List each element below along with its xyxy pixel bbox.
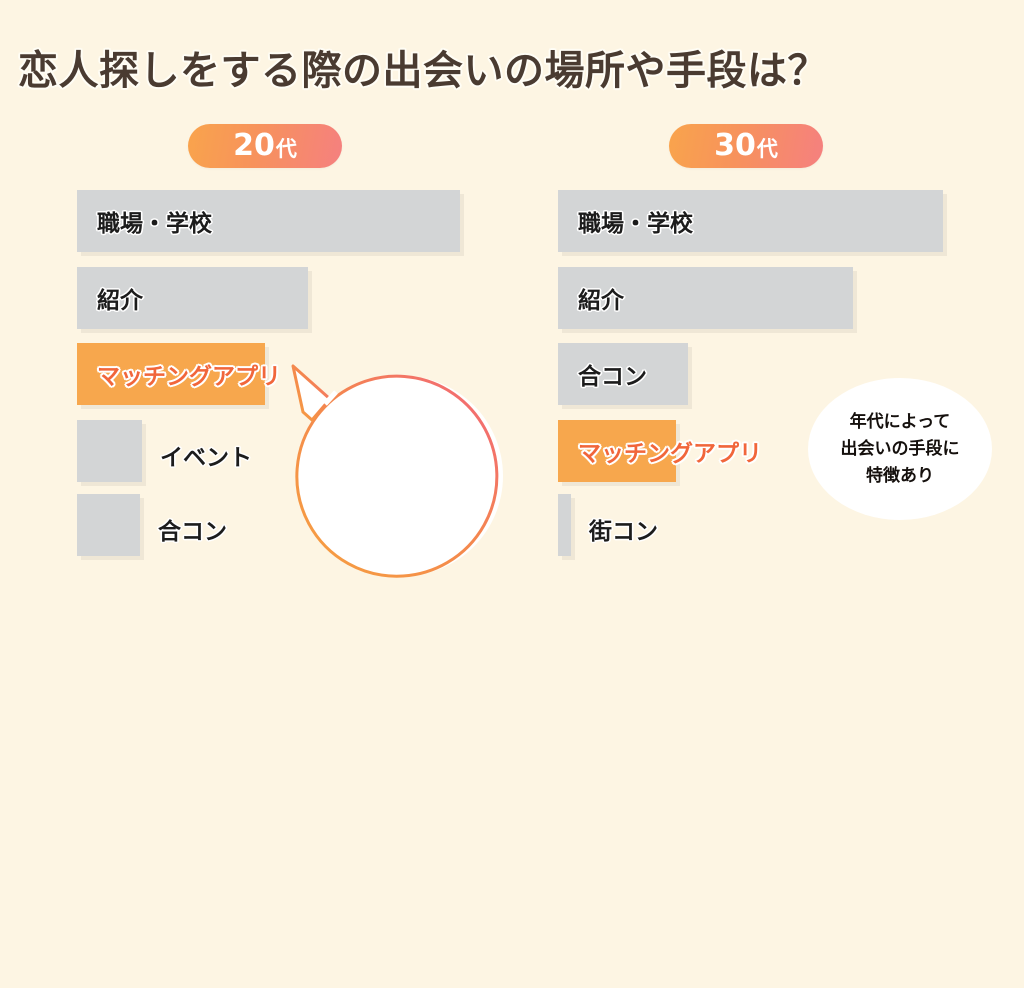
bar-label-workplace-school-20s: 職場・学校 (97, 204, 212, 238)
age-badge-30s-suffix: 代 (757, 139, 778, 160)
callout-left-line-3: 一般化している (326, 493, 479, 527)
age-badge-30s-number: 30 (714, 131, 756, 161)
bar-label-matching-app-20s: マッチングアプリ (97, 357, 281, 391)
callout-right-line-1: 年代によって (850, 409, 951, 436)
bar-label-event-20s: イベント (160, 438, 252, 472)
bar-workplace-school-30s: 職場・学校 (558, 190, 943, 252)
age-badge-30s: 30 代 (669, 124, 823, 168)
bar-introduction-30s: 紹介 (558, 267, 853, 329)
bar-group-date-20s (77, 494, 140, 556)
bar-event-20s (77, 420, 142, 482)
page-title: 恋人探しをする際の出会いの場所や手段は？ (18, 38, 828, 96)
bar-label-matching-app-30s: マッチングアプリ (578, 434, 762, 468)
age-badge-20s-suffix: 代 (276, 139, 297, 160)
infographic-canvas: 恋人探しをする際の出会いの場所や手段は？ 20 代 30 代 職場・学校紹介マッ… (0, 0, 1024, 610)
bar-label-introduction-30s: 紹介 (578, 281, 624, 315)
bar-label-town-meetup-30s: 街コン (589, 512, 658, 546)
bar-matching-app-30s: マッチングアプリ (558, 420, 676, 482)
bar-label-introduction-20s: 紹介 (97, 281, 143, 315)
callout-right-line-2: 出会いの手段に (841, 436, 960, 463)
callout-left-line-1: 若い世代の (348, 425, 458, 459)
callout-left-line-2: アプリ利用が (337, 459, 469, 493)
callout-bubble-left: 若い世代の アプリ利用が 一般化している (303, 376, 503, 576)
bar-town-meetup-30s (558, 494, 571, 556)
age-badge-20s: 20 代 (188, 124, 342, 168)
bar-group-date-30s: 合コン (558, 343, 688, 405)
callout-right-line-3: 特徴あり (866, 463, 934, 490)
bar-label-group-date-30s: 合コン (578, 357, 647, 391)
bar-label-group-date-20s: 合コン (158, 512, 227, 546)
bar-matching-app-20s: マッチングアプリ (77, 343, 265, 405)
bar-introduction-20s: 紹介 (77, 267, 308, 329)
callout-bubble-right: 年代によって 出会いの手段に 特徴あり HITOOSHI パーソナライズ婚活サー… (808, 378, 992, 520)
bar-workplace-school-20s: 職場・学校 (77, 190, 460, 252)
age-badge-20s-number: 20 (233, 131, 275, 161)
bar-label-workplace-school-30s: 職場・学校 (578, 204, 693, 238)
